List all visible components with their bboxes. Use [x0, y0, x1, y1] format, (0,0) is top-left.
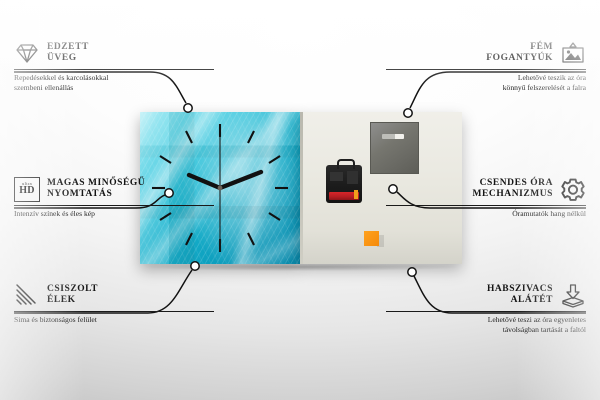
ultra-hd-badge-icon: ultra HD	[14, 176, 40, 202]
diamond-icon	[14, 40, 40, 66]
battery-terminal	[354, 190, 358, 199]
arrow-down-onto-pad-icon	[560, 282, 586, 308]
callout-metal-handles: FÉM FOGANTYÚK Lehetővé teszik az óra kön…	[386, 40, 586, 92]
callout-divider	[386, 69, 586, 70]
clock-hand-minute	[220, 172, 261, 188]
product-drop-shadow	[146, 263, 458, 271]
panel-edge	[300, 112, 303, 264]
callout-title: MAGAS MINŐSÉGŰ NYOMTATÁS	[47, 178, 145, 201]
foam-pad	[364, 231, 379, 246]
mechanism-hanger-loop	[337, 159, 355, 169]
clock-mechanism-box	[326, 165, 362, 203]
framed-picture-icon	[560, 40, 586, 66]
callout-title: FÉM FOGANTYÚK	[486, 42, 553, 65]
callout-divider	[14, 69, 214, 70]
callout-title: CSENDES ÓRA MECHANIZMUS	[473, 178, 553, 201]
mechanism-detail-left	[330, 172, 343, 181]
callout-divider	[386, 205, 586, 206]
callout-divider	[386, 311, 586, 312]
battery	[329, 192, 359, 200]
callout-title: CSISZOLT ÉLEK	[47, 284, 98, 307]
clock-center-cap	[218, 186, 223, 191]
callout-polished-edges: CSISZOLT ÉLEK Sima és biztonságos felüle…	[14, 282, 214, 325]
leader-dot-tempered-glass	[184, 104, 192, 112]
callout-divider	[14, 205, 214, 206]
hanger-slot	[382, 134, 404, 139]
mechanism-detail-right	[347, 171, 358, 184]
callout-title: EDZETT ÜVEG	[47, 42, 89, 65]
callout-divider	[14, 311, 214, 312]
metal-hanger-plate	[370, 122, 419, 174]
callout-hd-print: ultra HD MAGAS MINŐSÉGŰ NYOMTATÁS Intenz…	[14, 176, 214, 219]
callout-foam-backing: HABSZIVACS ALÁTÉT Lehetővé teszi az óra …	[386, 282, 586, 334]
callout-tempered-glass: EDZETT ÜVEG Repedésekkel és karcolásokka…	[14, 40, 214, 92]
callout-title: HABSZIVACS ALÁTÉT	[487, 284, 553, 307]
infographic-canvas: EDZETT ÜVEG Repedésekkel és karcolásokka…	[0, 0, 600, 400]
gear-icon	[560, 176, 586, 202]
diagonal-lines-icon	[14, 282, 40, 308]
callout-silent-mechanism: CSENDES ÓRA MECHANIZMUS Óramutatók hang …	[386, 176, 586, 219]
